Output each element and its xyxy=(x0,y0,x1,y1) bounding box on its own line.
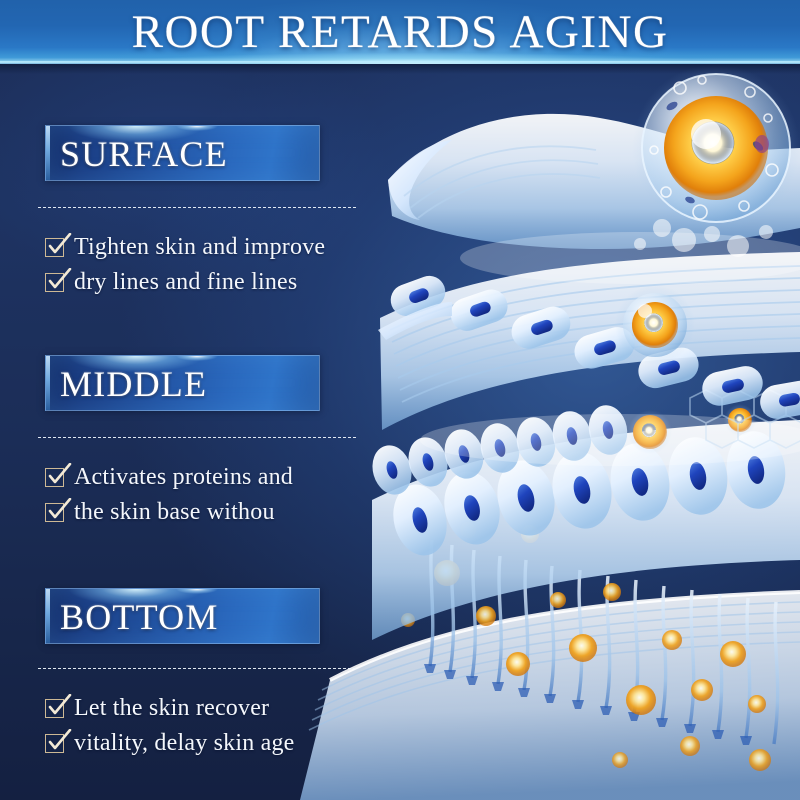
checkbox-checked-icon xyxy=(45,273,65,293)
bullet-list-bottom: Let the skin recover vitality, delay ski… xyxy=(45,692,385,762)
divider-middle xyxy=(38,437,356,438)
section-label-box-bottom: BOTTOM xyxy=(45,588,320,644)
list-item: dry lines and fine lines xyxy=(45,266,385,299)
list-item: Tighten skin and improve xyxy=(45,231,385,264)
checkbox-checked-icon xyxy=(45,503,65,523)
bullet-text: the skin base withou xyxy=(74,496,275,529)
bullet-list-middle: Activates proteins and the skin base wit… xyxy=(45,461,385,531)
checkbox-checked-icon xyxy=(45,734,65,754)
poster-canvas: ROOT RETARDS AGING SURFACE Tighten ski xyxy=(0,0,800,800)
list-item: vitality, delay skin age xyxy=(45,727,385,760)
checkbox-checked-icon xyxy=(45,468,65,488)
list-item: the skin base withou xyxy=(45,496,385,529)
list-item: Let the skin recover xyxy=(45,692,385,725)
bullet-text: Activates proteins and xyxy=(74,461,293,494)
bullet-text: vitality, delay skin age xyxy=(74,727,295,760)
section-label-bottom: BOTTOM xyxy=(60,589,313,644)
divider-surface xyxy=(38,207,356,208)
bullet-text: Tighten skin and improve xyxy=(74,231,325,264)
section-label-middle: MIDDLE xyxy=(60,356,313,411)
bullet-text: Let the skin recover xyxy=(74,692,269,725)
bullet-list-surface: Tighten skin and improve dry lines and f… xyxy=(45,231,385,301)
section-bottom: BOTTOM xyxy=(0,588,400,644)
list-item: Activates proteins and xyxy=(45,461,385,494)
section-middle: MIDDLE xyxy=(0,355,400,411)
checkbox-checked-icon xyxy=(45,699,65,719)
divider-bottom xyxy=(38,668,356,669)
content-column: SURFACE Tighten skin and improve dry lin… xyxy=(0,0,800,800)
checkbox-checked-icon xyxy=(45,238,65,258)
section-label-box-middle: MIDDLE xyxy=(45,355,320,411)
section-label-surface: SURFACE xyxy=(60,126,313,181)
section-label-box-surface: SURFACE xyxy=(45,125,320,181)
section-surface: SURFACE xyxy=(0,125,400,181)
bullet-text: dry lines and fine lines xyxy=(74,266,297,299)
